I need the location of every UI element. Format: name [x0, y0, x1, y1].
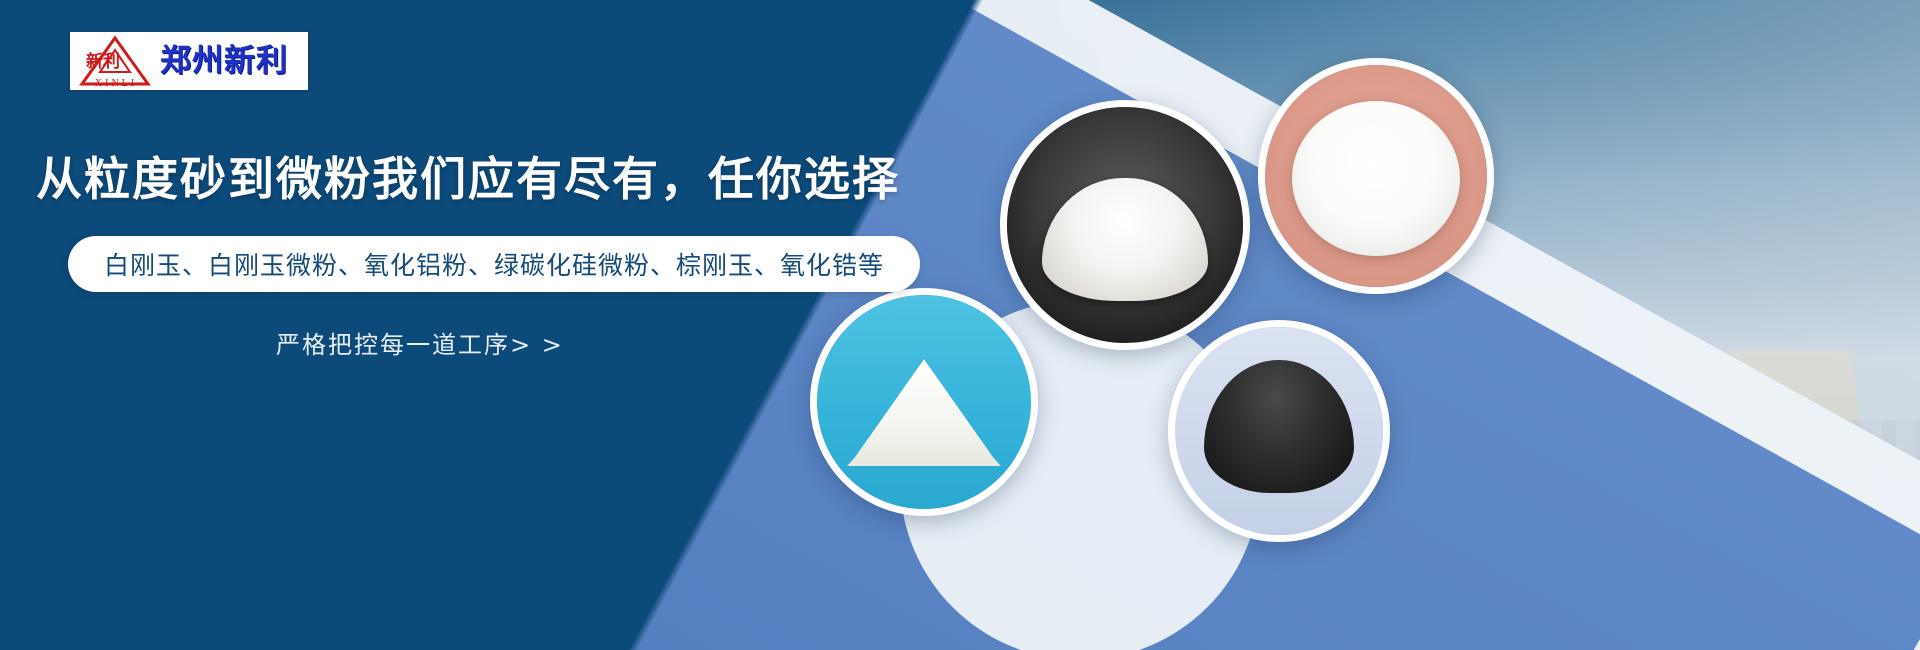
product-circle-green-silicon-carbide-grit [1168, 320, 1390, 542]
product-tray [1007, 107, 1243, 343]
company-logo[interactable]: 新利 XINLI 郑州新利 [70, 32, 308, 90]
headline: 从粒度砂到微粉我们应有尽有，任你选择 [36, 143, 900, 209]
product-tray [1265, 65, 1487, 287]
logo-company-name: 郑州新利 [160, 46, 288, 77]
product-circle-alumina-powder-cone [810, 288, 1038, 516]
product-circle-white-fused-alumina-grit [1000, 100, 1250, 350]
product-list-pill[interactable]: 白刚玉、白刚玉微粉、氧化铝粉、绿碳化硅微粉、棕刚玉、氧化锆等 [68, 236, 920, 292]
product-list-text: 白刚玉、白刚玉微粉、氧化铝粉、绿碳化硅微粉、棕刚玉、氧化锆等 [104, 246, 884, 282]
promo-banner: 新利 XINLI 郑州新利 从粒度砂到微粉我们应有尽有，任你选择 白刚玉、白刚玉… [0, 0, 1920, 650]
logo-mark-text: 新利 [86, 54, 120, 71]
logo-mark-pinyin: XINLI [84, 78, 148, 89]
product-tray [817, 295, 1031, 509]
triangle-logo-icon: 新利 XINLI [76, 34, 154, 88]
product-circle-white-alumina-micropowder [1258, 58, 1494, 294]
material-pile [847, 359, 1001, 466]
material-pile [1042, 178, 1207, 301]
product-tray [1175, 327, 1383, 535]
material-pile [1204, 360, 1354, 493]
material-pile [1292, 101, 1461, 256]
process-cta-link[interactable]: 严格把控每一道工序> > [276, 325, 564, 360]
